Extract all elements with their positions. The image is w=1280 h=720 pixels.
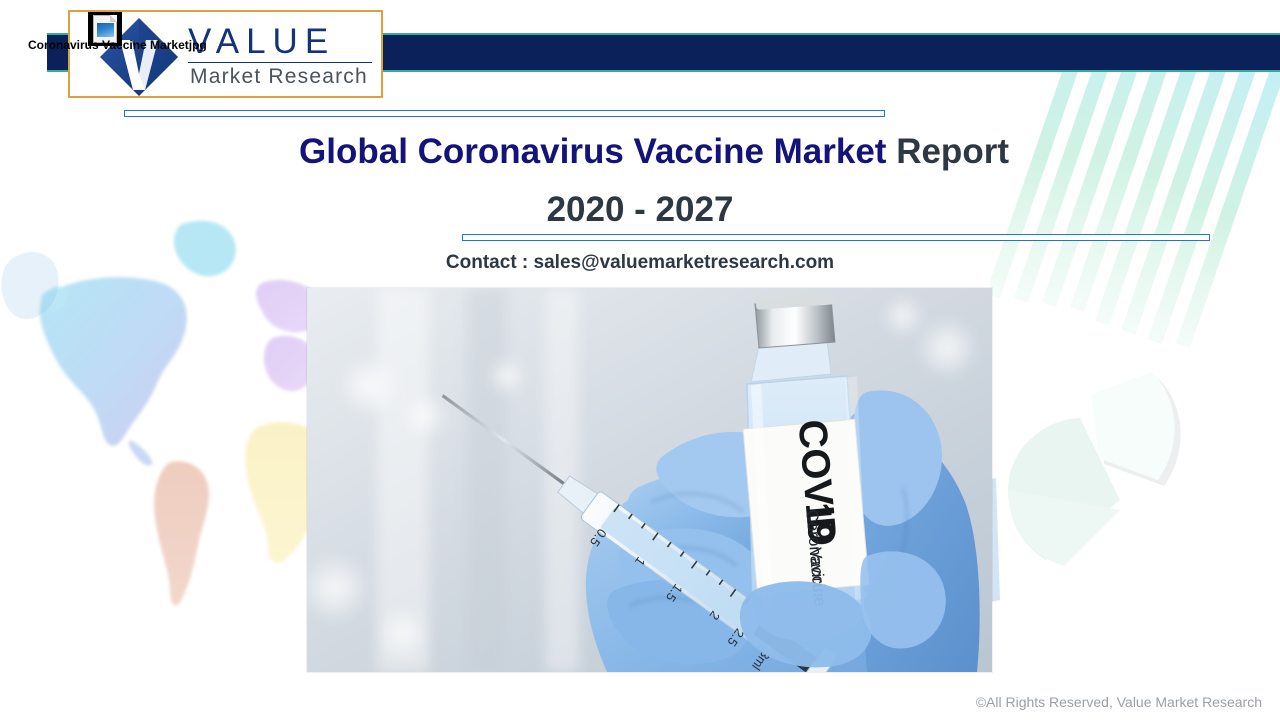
page-title-primary: Global Coronavirus Vaccine Market: [299, 132, 886, 171]
title-rule-top: [124, 110, 885, 117]
broken-image-alt-text: Coronavirus Vaccine Marketjpg: [28, 38, 207, 52]
title-rule-bottom: [462, 234, 1210, 241]
contact-line: Contact : sales@valuemarketresearch.com: [0, 252, 1280, 274]
page-title-suffix: Report: [886, 132, 1009, 171]
logo-tagline: Market Research: [190, 65, 368, 89]
logo-wordmark: VALUE: [188, 24, 335, 59]
page-title: Global Coronavirus Vaccine Market Report: [0, 132, 1280, 172]
header-bar-right-segment: [380, 33, 1280, 72]
logo-underline: [188, 62, 372, 63]
hero-image: 0.5 1 1.5 2 2.5 3ml COVID 19: [307, 288, 992, 672]
page-title-years: 2020 - 2027: [0, 190, 1280, 230]
pie-chart-decoration: [980, 360, 1280, 660]
footer-copyright: ©All Rights Reserved, Value Market Resea…: [976, 694, 1262, 710]
